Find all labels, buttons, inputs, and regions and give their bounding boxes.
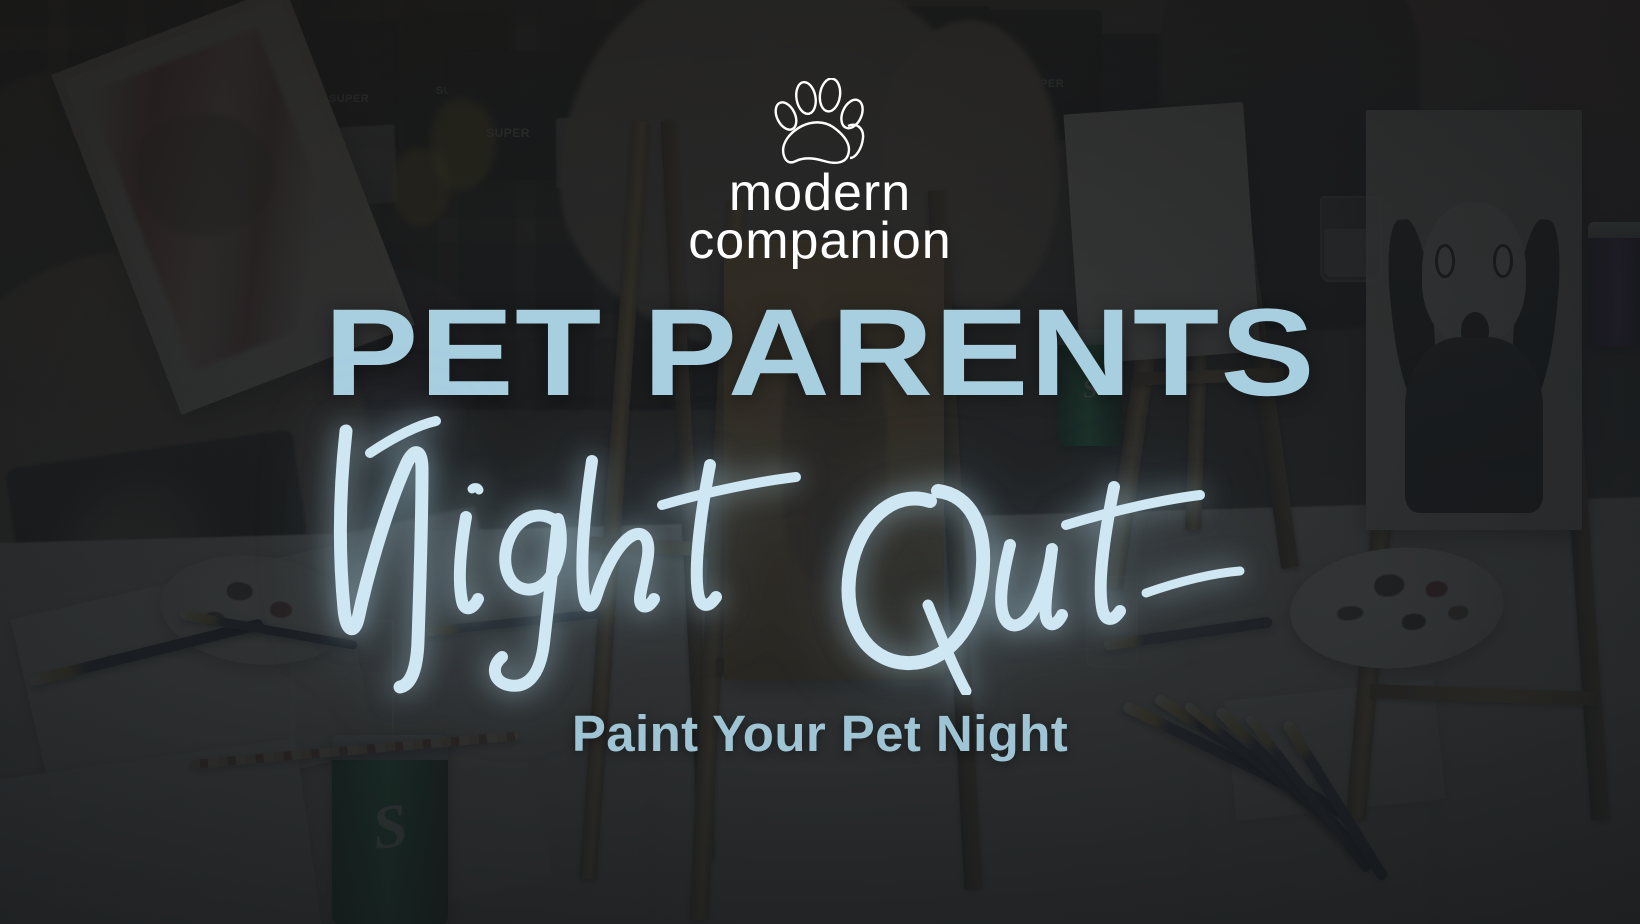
script-title [310,395,1330,695]
script-title-wrap [320,380,1320,710]
brand-logo: modern companion [688,78,951,266]
paw-print-icon [760,78,880,170]
brand-name-line2: companion [688,218,951,266]
brand-wordmark: modern companion [688,170,951,266]
poster-content: modern companion PET PARENTS [0,0,1640,924]
subtitle-text: Paint Your Pet Night [572,704,1068,763]
poster-canvas: SUPER SUPER SUPER SUPER [0,0,1640,924]
